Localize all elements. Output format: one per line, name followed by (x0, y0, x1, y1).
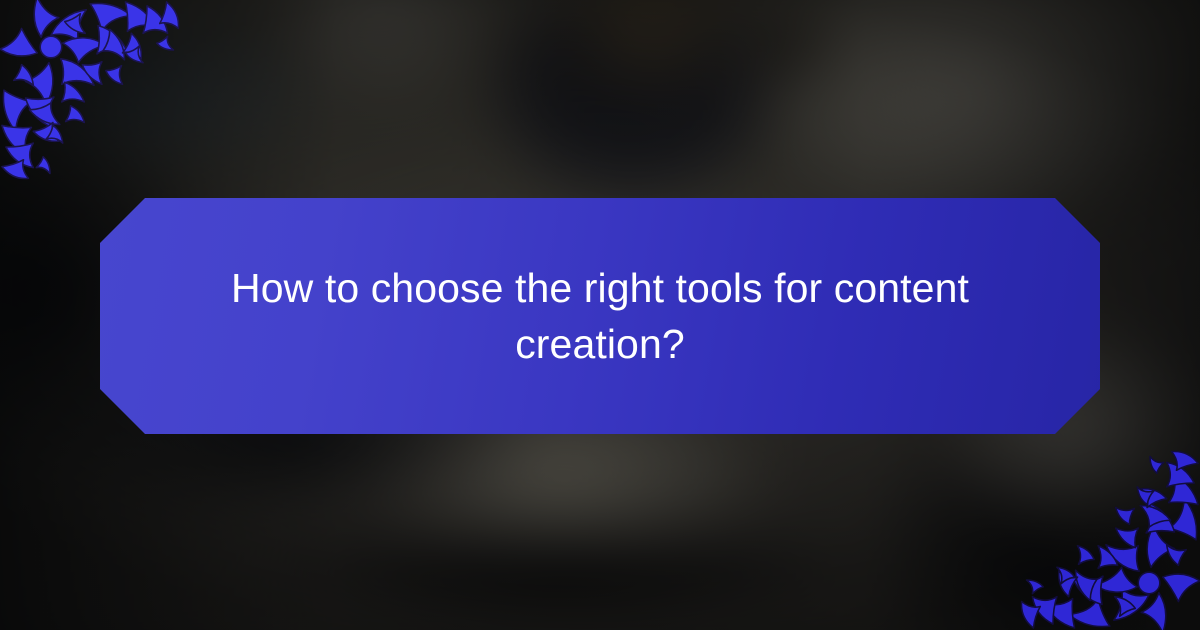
page-title: How to choose the right tools for conten… (220, 260, 980, 372)
share-card-canvas: How to choose the right tools for conten… (0, 0, 1200, 630)
title-banner: How to choose the right tools for conten… (100, 198, 1100, 434)
